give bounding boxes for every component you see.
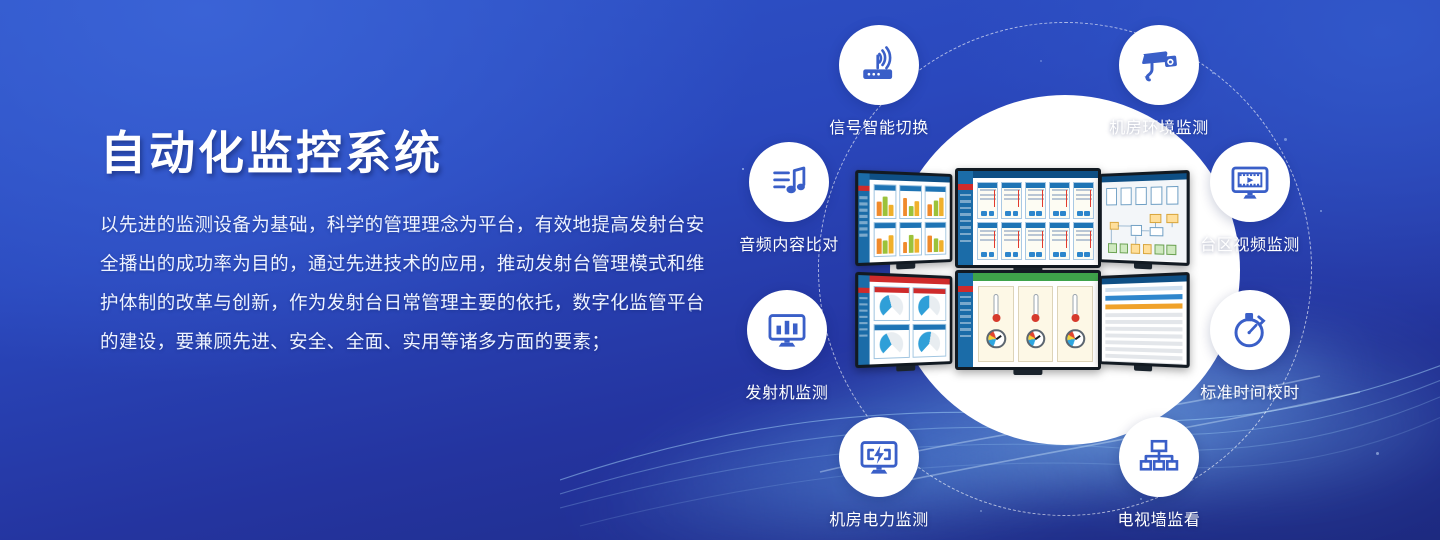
feature-label-signal-switch: 信号智能切换 [799, 114, 959, 138]
feature-label-room-power: 机房电力监测 [799, 506, 959, 530]
monitor-status-grid [955, 168, 1101, 268]
monitor-wall [855, 168, 1190, 368]
feature-node-room-environment[interactable]: 机房环境监测 [1079, 25, 1239, 138]
music-note-icon[interactable] [749, 142, 829, 222]
router-signal-icon[interactable] [839, 25, 919, 105]
monitor-gauge-dashboard [855, 272, 952, 368]
feature-node-transmitter[interactable]: 发射机监测 [707, 290, 867, 403]
page-description: 以先进的监测设备为基础，科学的管理理念为平台，有效地提高发射台安全播出的成功率为… [100, 205, 710, 361]
feature-label-district-video: 台区视频监测 [1170, 231, 1330, 255]
stopwatch-icon[interactable] [1210, 290, 1290, 370]
feature-label-time-sync: 标准时间校时 [1170, 379, 1330, 403]
feature-label-audio-compare: 音频内容比对 [709, 231, 869, 255]
sitemap-icon[interactable] [1119, 417, 1199, 497]
page-title: 自动化监控系统 [100, 128, 710, 179]
feature-node-time-sync[interactable]: 标准时间校时 [1170, 290, 1330, 403]
monitor-bar-dashboard [855, 170, 952, 266]
feature-node-audio-compare[interactable]: 音频内容比对 [709, 142, 869, 255]
monitor-thermometers [955, 270, 1101, 370]
feature-node-room-power[interactable]: 机房电力监测 [799, 417, 959, 530]
feature-label-transmitter: 发射机监测 [707, 379, 867, 403]
feature-label-room-environment: 机房环境监测 [1079, 114, 1239, 138]
feature-node-district-video[interactable]: 台区视频监测 [1170, 142, 1330, 255]
monitor-video-icon[interactable] [1210, 142, 1290, 222]
copy-block: 自动化监控系统 以先进的监测设备为基础，科学的管理理念为平台，有效地提高发射台安… [100, 128, 710, 361]
banner-root: 自动化监控系统 以先进的监测设备为基础，科学的管理理念为平台，有效地提高发射台安… [0, 0, 1440, 540]
security-camera-icon[interactable] [1119, 25, 1199, 105]
feature-label-tv-wall: 电视墙监看 [1079, 506, 1239, 530]
feature-node-signal-switch[interactable]: 信号智能切换 [799, 25, 959, 138]
monitor-power-icon[interactable] [839, 417, 919, 497]
feature-node-tv-wall[interactable]: 电视墙监看 [1079, 417, 1239, 530]
monitor-chart-icon[interactable] [747, 290, 827, 370]
